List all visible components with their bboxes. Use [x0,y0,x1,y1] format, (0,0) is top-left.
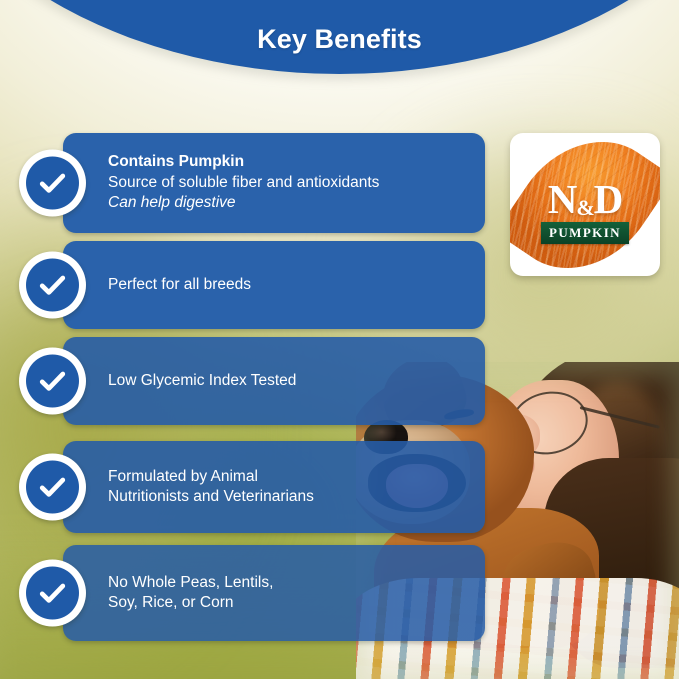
benefits-list: Contains Pumpkin Source of soluble fiber… [0,0,679,679]
benefit-line2-4: Formulated by Animal [108,467,471,487]
benefit-line2-1: Source of soluble fiber and antioxidants [108,173,471,193]
benefit-line3-1: Can help digestive [108,193,471,213]
benefit-card-2[interactable]: Perfect for all breeds [63,241,485,329]
key-benefits-infographic: Key Benefits Contains Pumpkin Source of … [0,0,679,679]
benefit-text-5: No Whole Peas, Lentils, Soy, Rice, or Co… [63,573,485,614]
logo-brand-n: N [548,176,577,222]
benefit-card-1[interactable]: Contains Pumpkin Source of soluble fiber… [63,133,485,233]
check-badge-3 [19,348,86,415]
logo-brand-amp: & [576,195,593,220]
logo-brand-text: N&D [510,179,660,220]
benefit-line2-3: Low Glycemic Index Tested [108,371,471,391]
check-icon [26,157,79,210]
nd-pumpkin-logo[interactable]: N&D PUMPKIN [510,133,660,276]
check-badge-1 [19,150,86,217]
benefit-text-1: Contains Pumpkin Source of soluble fiber… [63,152,485,213]
benefit-heading-1: Contains Pumpkin [108,152,471,172]
check-icon [26,461,79,514]
benefit-text-4: Formulated by Animal Nutritionists and V… [63,467,485,508]
benefit-line3-4: Nutritionists and Veterinarians [108,487,471,507]
check-badge-2 [19,252,86,319]
check-badge-5 [19,560,86,627]
benefit-line3-5: Soy, Rice, or Corn [108,593,471,613]
check-icon [26,259,79,312]
benefit-line2-2: Perfect for all breeds [108,275,471,295]
logo-brand-d: D [594,176,623,222]
check-icon [26,567,79,620]
benefit-line2-5: No Whole Peas, Lentils, [108,573,471,593]
benefit-card-3[interactable]: Low Glycemic Index Tested [63,337,485,425]
benefit-text-3: Low Glycemic Index Tested [63,371,485,391]
check-icon [26,355,79,408]
benefit-card-5[interactable]: No Whole Peas, Lentils, Soy, Rice, or Co… [63,545,485,641]
check-badge-4 [19,454,86,521]
benefit-text-2: Perfect for all breeds [63,275,485,295]
benefit-card-4[interactable]: Formulated by Animal Nutritionists and V… [63,441,485,533]
logo-variant-text: PUMPKIN [549,225,621,241]
logo-variant-ribbon: PUMPKIN [541,222,629,244]
